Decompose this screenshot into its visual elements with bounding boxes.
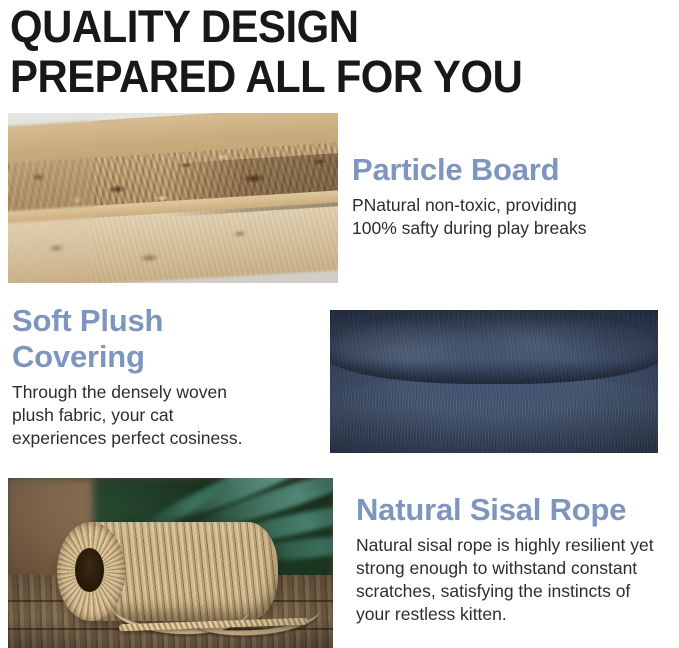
sisal-rope-image xyxy=(8,478,333,648)
headline-line-2: PREPARED ALL FOR YOU xyxy=(10,52,624,102)
rope-vignette xyxy=(8,478,333,648)
particle-board-title: Particle Board xyxy=(352,152,672,188)
soft-plush-title-line-1: Soft Plush xyxy=(12,303,312,339)
particle-board-text-block: Particle Board PNatural non-toxic, provi… xyxy=(352,152,672,240)
particle-board-body-line-1: PNatural non-toxic, providing xyxy=(352,194,672,217)
particle-board-body: PNatural non-toxic, providing 100% safty… xyxy=(352,194,672,240)
sisal-rope-title: Natural Sisal Rope xyxy=(356,492,674,528)
soft-plush-title: Soft Plush Covering xyxy=(12,303,312,375)
page-title: QUALITY DESIGN PREPARED ALL FOR YOU xyxy=(10,2,670,102)
soft-plush-body-line-1: Through the densely woven xyxy=(12,381,312,404)
particle-board-body-line-2: 100% safty during play breaks xyxy=(352,217,672,240)
soft-plush-body-line-3: experiences perfect cosiness. xyxy=(12,427,312,450)
sisal-rope-text-block: Natural Sisal Rope Natural sisal rope is… xyxy=(356,492,674,626)
soft-plush-title-line-2: Covering xyxy=(12,339,312,375)
sisal-rope-body-line-3: scratches, satisfying the instincts of xyxy=(356,580,674,603)
sisal-rope-body-line-2: strong enough to withstand constant xyxy=(356,557,674,580)
sisal-rope-body-line-1: Natural sisal rope is highly resilient y… xyxy=(356,534,674,557)
plush-vignette xyxy=(330,310,658,453)
board-depth-of-field-blur xyxy=(8,113,94,283)
headline-line-1: QUALITY DESIGN xyxy=(10,2,624,52)
sisal-rope-body-line-4: your restless kitten. xyxy=(356,603,674,626)
soft-plush-text-block: Soft Plush Covering Through the densely … xyxy=(12,303,312,450)
soft-plush-body-line-2: plush fabric, your cat xyxy=(12,404,312,427)
particle-board-image xyxy=(8,113,338,283)
soft-plush-body: Through the densely woven plush fabric, … xyxy=(12,381,312,450)
plush-covering-image xyxy=(330,310,658,453)
sisal-rope-body: Natural sisal rope is highly resilient y… xyxy=(356,534,674,626)
product-infographic: QUALITY DESIGN PREPARED ALL FOR YOU Part… xyxy=(0,0,679,648)
